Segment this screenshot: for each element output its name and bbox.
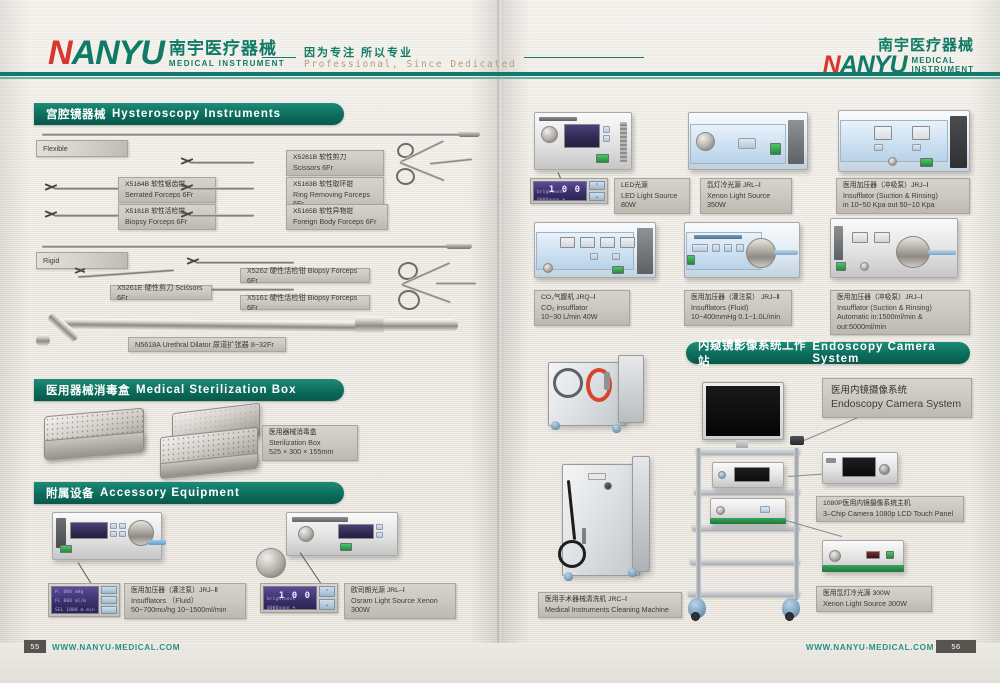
slogan-rule-left	[262, 57, 296, 58]
label-x5164b-serrated: X5164B 软性锯齿钳 Serrated Forceps 6Fr	[118, 177, 216, 203]
cart-caster-left-wheel	[691, 612, 700, 621]
label-x5163b-cn: X5163B 软性取环钳	[293, 181, 377, 190]
label-cleaning-machine-cn: 医用手术器械清洗机 JRC–Ⅰ	[545, 596, 675, 605]
camera-head	[790, 436, 804, 445]
cleaning-machine-black-hose-coil	[558, 540, 586, 568]
cleaning-machine-upper-caster-left	[551, 421, 560, 430]
group-label-flexible: Flexible	[36, 140, 128, 157]
label-x5165b-en: Foreign Body Forceps 6Fr	[293, 217, 381, 227]
cart-caster-right-wheel	[785, 612, 794, 621]
device-osram-screen	[338, 524, 374, 539]
readout-key-3[interactable]	[101, 606, 117, 614]
cleaning-machine-spray-gun	[604, 372, 610, 390]
slogan-block: 因为专注 所以专业 Professional, Since Dedicated	[262, 44, 644, 70]
device-xenon-300w-output-port	[829, 550, 841, 562]
label-led-cn: LED光源	[621, 182, 683, 191]
readout-led-value: 1 0 0	[549, 185, 581, 195]
readout-insufflator-fluid: P. 000 mHg FL 000 ml/m SEL 1000 m.min	[48, 583, 120, 617]
section-header-sterilization: 医用器械消毒盒 Medical Sterilization Box	[34, 379, 344, 401]
header-rule-thin	[0, 77, 1000, 79]
device-1080p-screen	[842, 457, 876, 477]
device-insufflator-fluid-btn1	[110, 523, 117, 529]
device-co2-display1	[560, 237, 575, 248]
slogan-rule-right	[524, 57, 644, 58]
device-insufflator-suction-auto-power-button	[836, 262, 846, 271]
cart-light-source	[710, 498, 786, 524]
device-1080p-port	[879, 464, 890, 475]
readout-led-key-down[interactable]: ⌄	[589, 192, 605, 201]
label-n5618a-text: N5618A Urethral Dilator 尿道扩张器 8~32Fr	[135, 340, 274, 350]
label-led-light-source: LED光源 LED Light Source 80W	[614, 178, 690, 214]
device-xenon-300w	[822, 540, 904, 572]
device-insufflators-fluid-2-btn4	[736, 244, 744, 252]
cart-caster-right[interactable]	[782, 598, 800, 618]
label-insufflator-suction-cn: 医用加压器（冲吸泵）JRJ–Ⅰ	[843, 182, 963, 191]
cleaning-machine-grey-hose-coil	[553, 368, 583, 398]
label-x5161b-biopsy: X5161B 软性活检钳 Biopsy Forceps 6Fr	[118, 204, 216, 230]
device-insufflator-suction-display1	[874, 126, 892, 140]
device-insufflator-suction-auto-body	[830, 218, 958, 278]
readout-osram-value: 1 0 0	[279, 591, 311, 601]
readout-key-2[interactable]	[101, 596, 117, 604]
readout-key-1[interactable]	[101, 586, 117, 594]
label-x5161-text: X5161 硬性活检钳 Biopsy Forceps 6Fr	[247, 293, 363, 312]
device-co2-display3	[600, 237, 615, 248]
label-sterilization-en: Sterilization Box	[269, 438, 351, 448]
cart-shelf-4	[690, 558, 800, 565]
footer-site-left[interactable]: WWW.NANYU-MEDICAL.COM	[52, 643, 180, 652]
page-number-left: 55	[24, 640, 46, 653]
label-x5261b-en: Scissors 6Fr	[293, 163, 377, 173]
label-sterilization-dim: 525 × 300 × 155mm	[269, 447, 351, 457]
section-header-accessory-en: Accessory Equipment	[100, 487, 240, 499]
readout-insufflator-fluid-lcd: P. 000 mHg FL 000 ml/m SEL 1000 m.min	[51, 586, 99, 614]
page-gutter	[497, 0, 503, 683]
device-insufflator-fluid-power-button	[60, 545, 72, 553]
cart-light-source-port	[716, 506, 725, 515]
cleaning-machine-handle	[582, 528, 586, 544]
device-co2-display2	[580, 237, 595, 248]
brand-logo-right: 南宇医疗器械 NANYU MEDICAL INSTRUMENT	[823, 34, 974, 77]
slogan-en: Professional, Since Dedicated	[304, 59, 516, 70]
label-xenon-300w: 医用氙灯冷光源 300W Xenon Light Source 300W	[816, 586, 932, 612]
device-insufflators-fluid-2	[684, 222, 800, 278]
label-insufflator-suction-auto-en: Insufflator (Suction & Rinsing)	[837, 303, 963, 313]
device-co2-insufflator	[534, 222, 656, 278]
urethral-dilator-collar	[355, 316, 385, 334]
cart-post-left	[696, 448, 701, 600]
device-insufflator-suction-auto-sidepanel	[834, 226, 843, 260]
label-insufflator-suction-auto-cn: 医用加压器（冲吸泵）JRJ–Ⅰ	[837, 294, 963, 303]
device-1080p-camera-host	[822, 452, 898, 484]
cart-shelf-top	[696, 448, 800, 455]
readout-fluid-line3: SEL 1000 m.min	[55, 608, 95, 613]
readout-osram-keys[interactable]: ⌃⌄	[319, 586, 335, 610]
device-osram-btn1	[376, 524, 383, 530]
label-x5261e-scissors: X5261E 硬性剪刀 Scissors 6Fr	[110, 285, 212, 300]
slogan-text-col: 因为专注 所以专业 Professional, Since Dedicated	[304, 44, 516, 70]
readout-led-sub: 0000nnnn %	[537, 198, 565, 201]
cart-camera-host-screen	[734, 467, 770, 482]
device-insufflator-fluid-btn3	[110, 531, 117, 537]
device-osram-btn2	[376, 532, 383, 538]
readout-fluid-line2: FL 000 ml/m	[55, 599, 86, 604]
device-osram-light-guide-connector	[256, 548, 286, 578]
readout-led: brightness 1 0 0 0000nnnn % ⌃⌄	[530, 178, 608, 204]
rigid-scope-shaft	[42, 245, 452, 248]
device-insufflator-suction-btn2	[912, 144, 921, 151]
label-insufflator-fluid: 医用加压器（灌注泵）JRJ–Ⅱ Insufflators （Fluid） 50~…	[124, 583, 246, 619]
device-insufflator-fluid-tubing	[148, 540, 166, 545]
big-scissor-blade	[436, 282, 476, 285]
device-insufflator-suction-display2	[912, 126, 930, 140]
cart-shelf-5	[688, 590, 800, 597]
device-co2-btn1	[590, 253, 598, 260]
label-x5161b-en: Biopsy Forceps 6Fr	[125, 217, 209, 227]
cart-caster-left[interactable]	[688, 598, 706, 618]
brand-letters-anyu: ANYU	[72, 34, 164, 72]
device-led-power-button	[596, 154, 609, 163]
section-header-camera-system: 内窥镜影像系统工作站 Endoscopy Camera System	[686, 342, 970, 364]
device-insufflators-fluid-2-brandstrip	[694, 235, 742, 239]
label-insufflator-fluid-spec: 50~700mυ/hg 10~1500ml/min	[131, 605, 239, 615]
device-co2-btn2	[612, 253, 620, 260]
section-header-accessory: 附属设备 Accessory Equipment	[34, 482, 344, 504]
device-osram-lamp-port	[298, 526, 314, 542]
device-insufflator-suction-btn1	[874, 144, 883, 151]
device-co2-side	[637, 228, 653, 274]
cleaning-machine-main-side	[632, 456, 650, 572]
label-insufflators-fluid-2-cn: 医用加压器（灌注泵） JRJ–Ⅱ	[691, 294, 785, 303]
label-led-spec: 80W	[621, 200, 683, 210]
device-insufflator-fluid-btn4	[119, 531, 126, 537]
flexible-scope-shaft	[42, 133, 462, 136]
device-led-screen	[564, 124, 600, 148]
device-insufflators-fluid-2-btn2	[712, 244, 720, 252]
label-xenon-300w-cn: 医用氙灯冷光源 300W	[823, 590, 925, 599]
label-sterilization-cn: 医用器械消毒盒	[269, 429, 351, 438]
label-xenon-spec: 350W	[707, 200, 785, 210]
label-insufflator-suction-spec: in 10~50 Kpa out 50~10 Kpa	[843, 200, 963, 210]
rigid-biopsy1-shaft	[196, 261, 294, 264]
label-insufflator-fluid-cn: 医用加压器（灌注泵）JRJ–Ⅱ	[131, 587, 239, 596]
label-sterilization-box: 医用器械消毒盒 Sterilization Box 525 × 300 × 15…	[262, 425, 358, 461]
cleaning-machine-indicator	[604, 482, 612, 490]
urethral-dilator-handle	[383, 319, 458, 332]
device-led-output-port	[541, 126, 558, 143]
device-insufflator-suction-auto-pumphead	[896, 236, 930, 268]
label-insufflators-fluid-2: 医用加压器（灌注泵） JRJ–Ⅱ Insufflators (Fluid) 10…	[684, 290, 792, 326]
device-insufflator-fluid-sidepanel	[56, 518, 66, 548]
ring-forceps-shaft	[190, 187, 254, 190]
section-header-hysteroscopy: 宫腔镜器械 Hysteroscopy Instruments	[34, 103, 344, 125]
device-xenon-300w-power-button	[886, 551, 894, 559]
endoscopy-monitor-stand	[736, 440, 748, 448]
label-xenon-light-source: 氙灯冷光源 JRL–Ⅰ Xenon Light Source 350W	[700, 178, 792, 214]
device-insufflators-fluid-2-tubing	[774, 250, 798, 255]
device-osram-light-source	[286, 512, 398, 556]
group-label-flexible-text: Flexible	[43, 144, 68, 154]
group-label-rigid-text: Rigid	[43, 256, 59, 266]
label-x5165b-cn: X5165B 软性异物钳	[293, 208, 381, 217]
rigid-scope-tip	[446, 243, 472, 249]
brand-right-en-1: MEDICAL	[912, 56, 974, 65]
section-header-camera-system-cn: 内窥镜影像系统工作站	[698, 337, 806, 369]
label-x5261b-cn: X5261B 软性剪刀	[293, 154, 377, 163]
label-co2-cn: CO₂气腹机 JRQ–Ⅰ	[541, 294, 623, 303]
biopsy-flex-forceps-shaft	[54, 214, 124, 217]
urethral-dilator-tip	[36, 334, 50, 347]
label-led-en: LED Light Source	[621, 191, 683, 201]
device-insufflator-fluid-btn2	[119, 523, 126, 529]
label-insufflators-fluid-2-en: Insufflators (Fluid)	[691, 303, 785, 313]
label-x5262-text: X5262 硬性活检钳 Biopsy Forceps 6Fr	[247, 266, 363, 285]
device-insufflator-suction-auto-port	[860, 262, 869, 271]
device-insufflator-suction-auto-display2	[874, 232, 890, 243]
device-led-brandstrip	[539, 117, 577, 121]
label-n5618a-dilator: N5618A Urethral Dilator 尿道扩张器 8~32Fr	[128, 337, 286, 352]
device-co2-display4	[620, 237, 635, 248]
label-1080p-cn: 1080P医用内镜摄像系统主机	[823, 500, 957, 509]
cleaning-machine-nameplate	[588, 473, 606, 480]
cart-shelf-3	[692, 524, 800, 531]
device-insufflators-fluid-2-pumphead	[746, 238, 776, 268]
device-osram-brandstrip	[292, 517, 348, 522]
cart-shelf-2	[694, 488, 800, 495]
header-rule-thick	[0, 72, 1000, 76]
readout-led-lcd: brightness 1 0 0 0000nnnn %	[533, 181, 587, 201]
label-xenon-cn: 氙灯冷光源 JRL–Ⅰ	[707, 182, 785, 191]
label-xenon-300w-en: Xenon Light Source 300W	[823, 599, 925, 609]
readout-fluid-line1: P. 000 mHg	[55, 590, 83, 595]
device-insufflator-suction-faceplate	[840, 120, 948, 162]
brand-wordmark: NANYU	[48, 38, 164, 69]
foreign-body-forceps-shaft	[190, 214, 254, 217]
section-header-accessory-cn: 附属设备	[46, 485, 94, 501]
readout-led-key-up[interactable]: ⌃	[589, 181, 605, 190]
device-xenon-output-port	[696, 132, 715, 151]
device-xenon-power-button	[770, 143, 781, 155]
label-x5262-biopsy: X5262 硬性活检钳 Biopsy Forceps 6Fr	[240, 268, 370, 283]
label-x5261e-text: X5261E 硬性剪刀 Scissors 6Fr	[117, 283, 205, 302]
label-x5261b-scissors: X5261B 软性剪刀 Scissors 6Fr	[286, 150, 384, 176]
device-co2-power-button	[612, 266, 624, 274]
endoscopy-monitor	[702, 382, 784, 440]
section-header-sterilization-cn: 医用器械消毒盒	[46, 382, 130, 398]
device-insufflator-fluid-screen	[70, 522, 108, 539]
footer-site-right[interactable]: WWW.NANYU-MEDICAL.COM	[806, 643, 934, 652]
device-insufflator-suction	[838, 110, 970, 172]
label-camera-system-main-cn: 医用内镜摄像系统	[831, 385, 963, 398]
label-insufflator-fluid-en: Insufflators （Fluid）	[131, 596, 239, 606]
section-header-camera-system-en: Endoscopy Camera System	[812, 341, 970, 365]
brand-logo-left: NANYU 南宇医疗器械 MEDICAL INSTRUMENT	[48, 38, 285, 69]
device-xenon-side	[788, 120, 804, 164]
readout-insufflator-fluid-keys[interactable]	[101, 586, 117, 614]
serrated-forceps-shaft	[54, 187, 124, 190]
cart-camera-host-port	[718, 471, 726, 479]
device-co2-gas-port	[543, 263, 553, 273]
device-insufflators-fluid-2-btn1	[692, 244, 708, 252]
label-osram-cn: 欧司朗光源 JRL–Ⅰ	[351, 587, 449, 596]
slogan-cn: 因为专注 所以专业	[304, 44, 516, 60]
readout-osram: brightness 1 0 0 0000nnnn % ⌃⌄	[260, 583, 338, 613]
section-header-hysteroscopy-en: Hysteroscopy Instruments	[112, 108, 281, 120]
label-camera-system-main-en: Endoscopy Camera System	[831, 398, 963, 412]
device-insufflators-fluid-2-power-button	[687, 255, 695, 265]
cart-light-source-green-strip	[710, 518, 786, 524]
section-header-hysteroscopy-cn: 宫腔镜器械	[46, 106, 106, 122]
label-insufflator-suction: 医用加压器（冲吸泵）JRJ–Ⅰ Insufflator (Suction & R…	[836, 178, 970, 214]
readout-led-keys[interactable]: ⌃⌄	[589, 181, 605, 201]
device-insufflator-suction-connector-panel	[950, 116, 967, 168]
label-osram-en: Osram Light Source Xenon	[351, 596, 449, 606]
label-osram-light-source: 欧司朗光源 JRL–Ⅰ Osram Light Source Xenon 300…	[344, 583, 456, 619]
cleaning-machine-upper-side	[618, 355, 644, 423]
label-cleaning-machine: 医用手术器械清洗机 JRC–Ⅰ Medical Instruments Clea…	[538, 592, 682, 618]
label-co2-spec: 10~30 L/min 40W	[541, 312, 623, 322]
brand-letter-n: N	[48, 34, 72, 72]
device-xenon-300w-display	[866, 551, 880, 559]
device-led-btn1	[603, 126, 610, 133]
device-xenon-300w-green-strip	[822, 565, 904, 572]
label-x5164b-en: Serrated Forceps 6Fr	[125, 190, 209, 200]
label-osram-spec: 300W	[351, 605, 449, 615]
label-co2-en: CO₂ insufflator	[541, 303, 623, 313]
device-1080p-indicator	[826, 458, 836, 463]
group-label-rigid: Rigid	[36, 252, 128, 269]
device-xenon-control-pad	[738, 138, 756, 149]
device-led-btn2	[603, 135, 610, 142]
label-cleaning-machine-en: Medical Instruments Cleaning Machine	[545, 605, 675, 615]
cleaning-machine-upper-caster-right	[612, 424, 621, 433]
label-x5165b-foreign: X5165B 软性异物钳 Foreign Body Forceps 6Fr	[286, 204, 388, 230]
device-insufflators-fluid-2-btn3	[724, 244, 732, 252]
device-insufflator-suction-auto-tubing	[928, 250, 956, 255]
label-insufflator-suction-auto: 医用加压器（冲吸泵）JRJ–Ⅰ Insufflator (Suction & R…	[830, 290, 970, 335]
label-x5161-biopsy: X5161 硬性活检钳 Biopsy Forceps 6Fr	[240, 295, 370, 310]
device-xenon-light-source	[688, 112, 808, 170]
label-xenon-en: Xenon Light Source	[707, 191, 785, 201]
readout-osram-key-down[interactable]: ⌄	[319, 599, 335, 610]
device-insufflator-suction-auto	[830, 218, 958, 278]
endoscopy-monitor-screen	[706, 386, 780, 436]
masthead: NANYU 南宇医疗器械 MEDICAL INSTRUMENT 因为专注 所以专…	[0, 0, 1000, 82]
cart-camera-host	[712, 462, 784, 488]
device-insufflator-suction-power-button	[920, 158, 933, 167]
section-header-sterilization-en: Medical Sterilization Box	[136, 384, 296, 396]
device-insufflator-suction-auto-display1	[852, 232, 868, 243]
readout-osram-lcd: brightness 1 0 0 0000nnnn %	[263, 586, 317, 610]
label-insufflator-suction-auto-spec: Automatic in:1500ml/min & out:5000ml/min	[837, 312, 963, 331]
cart-light-source-btn	[760, 506, 770, 513]
device-osram-power-button	[340, 543, 352, 551]
cleaning-machine-caster-left	[564, 572, 573, 581]
label-1080p-camera-host: 1080P医用内镜摄像系统主机 3–Chip Camera 1080p LCD …	[816, 496, 964, 522]
device-led-light-source	[534, 112, 632, 170]
label-insufflator-suction-en: Insufflator (Suction & Rinsing)	[843, 191, 963, 201]
label-1080p-en: 3–Chip Camera 1080p LCD Touch Panel	[823, 509, 957, 519]
device-insufflator-suction-port	[888, 157, 897, 166]
cleaning-machine-caster-right	[628, 568, 637, 577]
flexible-scissors-shaft	[190, 161, 254, 164]
page-number-right: 56	[936, 640, 976, 653]
flexible-scope-tip	[458, 131, 480, 137]
label-camera-system-main: 医用内镜摄像系统 Endoscopy Camera System	[822, 378, 972, 418]
readout-osram-key-up[interactable]: ⌃	[319, 586, 335, 597]
readout-osram-sub: 0000nnnn %	[267, 606, 295, 610]
device-insufflator-fluid	[52, 512, 162, 560]
label-insufflators-fluid-2-spec: 10~400mmHg 0.1~1.0L/min	[691, 312, 785, 322]
label-co2-insufflator: CO₂气腹机 JRQ–Ⅰ CO₂ insufflator 10~30 L/min…	[534, 290, 630, 326]
device-led-vent	[620, 122, 627, 162]
